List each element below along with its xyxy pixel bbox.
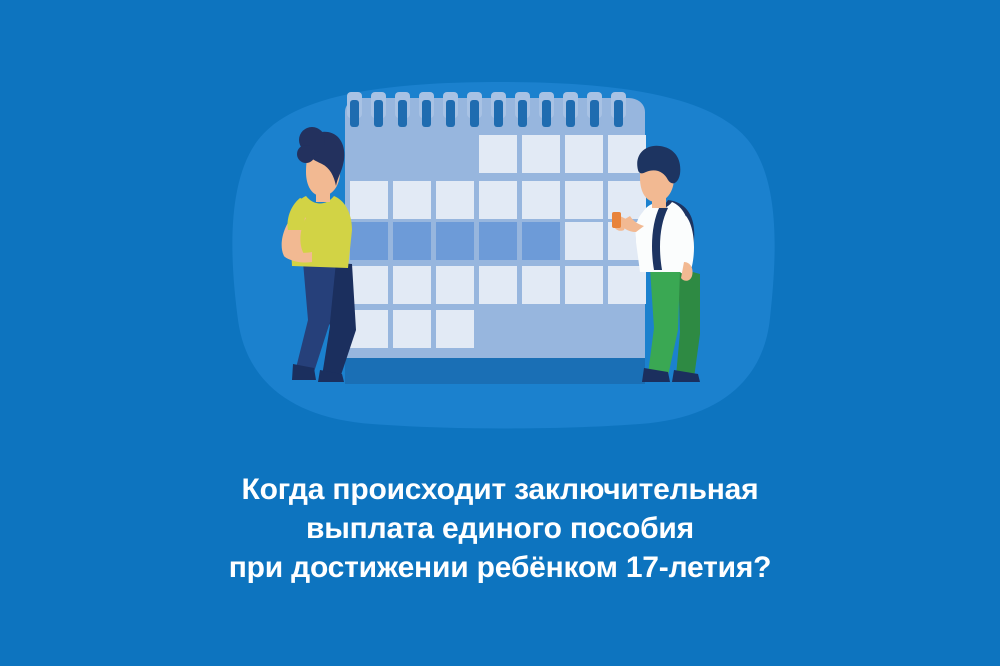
calendar-cell [436, 310, 474, 348]
caption-line-3: при достижении ребёнком 17-летия? [0, 548, 1000, 587]
calendar [345, 92, 646, 384]
calendar-cell-highlighted [479, 222, 517, 260]
calendar-cell [350, 266, 388, 304]
calendar-cell [393, 266, 431, 304]
calendar-cell [436, 181, 474, 219]
calendar-cell [479, 181, 517, 219]
calendar-cell [436, 266, 474, 304]
calendar-cell [522, 266, 560, 304]
caption-line-2: выплата единого пособия [0, 509, 1000, 548]
calendar-cell-highlighted [436, 222, 474, 260]
caption-block: Когда происходит заключительная выплата … [0, 470, 1000, 587]
caption-line-1: Когда происходит заключительная [0, 470, 1000, 509]
calendar-cell [522, 181, 560, 219]
calendar-base-bar [345, 358, 645, 384]
poster-root: Когда происходит заключительная выплата … [0, 0, 1000, 666]
calendar-cell [565, 135, 603, 173]
calendar-cell [479, 266, 517, 304]
calendar-cell [565, 266, 603, 304]
woman-hair-knot [297, 145, 315, 163]
calendar-cell [565, 222, 603, 260]
man-held-item [612, 212, 621, 228]
calendar-cell [565, 181, 603, 219]
calendar-cell [479, 135, 517, 173]
calendar-cell [393, 310, 431, 348]
calendar-cell [522, 135, 560, 173]
calendar-cell [393, 181, 431, 219]
calendar-cell-highlighted [350, 222, 388, 260]
illustration-calendar-scene [0, 0, 1000, 450]
calendar-cell-highlighted [393, 222, 431, 260]
calendar-cell [350, 181, 388, 219]
calendar-cell-highlighted [522, 222, 560, 260]
